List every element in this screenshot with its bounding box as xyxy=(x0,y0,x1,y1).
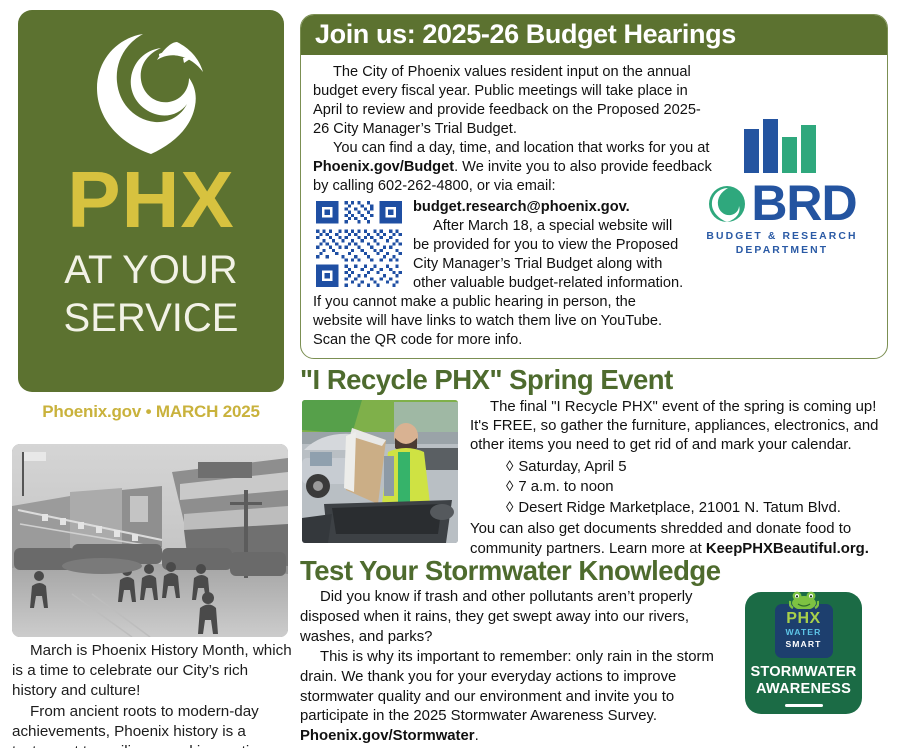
recycle-paragraph-1: The final "I Recycle PHX" event of the s… xyxy=(470,398,888,456)
brd-wordmark: BRD xyxy=(691,181,873,226)
diamond-bullet-icon: ◊ xyxy=(506,459,513,475)
stormwater-text-block: Did you know if trash and other pollutan… xyxy=(300,586,740,747)
bar-chart-icon xyxy=(722,117,842,173)
recycle-photo-illustration xyxy=(302,400,458,543)
newsletter-page: PHX AT YOUR SERVICE Phoenix.gov • MARCH … xyxy=(0,0,901,748)
stormwater-website-link[interactable]: Phoenix.gov/Stormwater xyxy=(300,728,475,744)
stormwater-paragraph-2a: This is why its important to remember: o… xyxy=(300,649,714,724)
recycle-tail-b: . xyxy=(865,541,869,557)
brd-logo: BRD BUDGET & RESEARCH DEPARTMENT xyxy=(691,117,873,257)
masthead-phx: PHX xyxy=(18,160,284,240)
historic-parade-illustration xyxy=(12,444,288,637)
brd-letters: BRD xyxy=(751,181,856,226)
badge-smart-text: SMART xyxy=(775,639,833,649)
badge-water-text: WATER xyxy=(775,627,833,639)
masthead-at-your: AT YOUR xyxy=(18,250,284,291)
history-text-block: March is Phoenix History Month, which is… xyxy=(12,641,294,748)
recycle-bullet-location: Desert Ridge Marketplace, 21001 N. Tatum… xyxy=(518,500,841,516)
recycle-bullet-time: 7 a.m. to noon xyxy=(518,479,613,495)
stormwater-paragraph-2b: . xyxy=(475,728,479,744)
budget-email-link[interactable]: budget.research@phoenix.gov xyxy=(413,199,626,215)
keep-phx-beautiful-link[interactable]: KeepPHXBeautiful.org xyxy=(706,541,865,557)
budget-paragraph-1: The City of Phoenix values resident inpu… xyxy=(313,63,713,139)
phx-water-smart-logo: PHX WATER SMART xyxy=(775,604,833,658)
recycle-text-block: The final "I Recycle PHX" event of the s… xyxy=(470,398,888,560)
list-item: ◊7 a.m. to noon xyxy=(506,477,888,498)
diamond-bullet-icon: ◊ xyxy=(506,479,513,495)
left-column: PHX AT YOUR SERVICE Phoenix.gov • MARCH … xyxy=(12,10,290,422)
recycle-details-list: ◊Saturday, April 5 ◊7 a.m. to noon ◊Dese… xyxy=(506,457,888,519)
stormwater-heading: Test Your Stormwater Knowledge xyxy=(300,556,890,587)
budget-hearings-body: BRD BUDGET & RESEARCH DEPARTMENT The Cit… xyxy=(301,55,887,358)
budget-email-period: . xyxy=(626,199,630,215)
budget-paragraph-2a: You can find a day, time, and location t… xyxy=(333,140,709,156)
stormwater-section: Test Your Stormwater Knowledge Did you k… xyxy=(300,556,890,747)
masthead-footer: Phoenix.gov • MARCH 2025 xyxy=(12,392,290,422)
right-column: Join us: 2025-26 Budget Hearings xyxy=(300,14,890,748)
recycle-bullet-date: Saturday, April 5 xyxy=(518,459,626,475)
frog-icon xyxy=(789,591,819,609)
diamond-bullet-icon: ◊ xyxy=(506,500,513,516)
recycle-section: "I Recycle PHX" Spring Event xyxy=(300,365,890,550)
budget-hearings-heading: Join us: 2025-26 Budget Hearings xyxy=(301,15,887,55)
masthead-service: SERVICE xyxy=(18,298,284,339)
stormwater-paragraph-2: This is why its important to remember: o… xyxy=(300,648,740,747)
stormwater-paragraph-1: Did you know if trash and other pollutan… xyxy=(300,588,740,647)
phoenix-bird-icon xyxy=(85,24,217,164)
qr-code-icon[interactable] xyxy=(313,198,405,290)
list-item: ◊Saturday, April 5 xyxy=(506,457,888,478)
stormwater-awareness-badge: PHX WATER SMART STORMWATER AWARENESS xyxy=(745,592,862,714)
recycle-event-photo xyxy=(302,400,458,543)
phoenix-bird-icon xyxy=(707,184,747,224)
badge-line-stormwater: STORMWATER xyxy=(745,664,862,680)
budget-website-link[interactable]: Phoenix.gov/Budget xyxy=(313,159,454,175)
brd-subtitle-1: BUDGET & RESEARCH xyxy=(691,230,873,244)
brd-subtitle-2: DEPARTMENT xyxy=(691,244,873,258)
list-item: ◊Desert Ridge Marketplace, 21001 N. Tatu… xyxy=(506,498,888,519)
recycle-tail-paragraph: You can also get documents shredded and … xyxy=(470,520,888,559)
history-paragraph-2: From ancient roots to modern-day achieve… xyxy=(12,702,294,748)
badge-divider xyxy=(785,704,823,707)
budget-hearings-card: Join us: 2025-26 Budget Hearings xyxy=(300,14,888,359)
history-photo xyxy=(12,444,288,637)
badge-line-awareness: AWARENESS xyxy=(745,681,862,697)
recycle-heading: "I Recycle PHX" Spring Event xyxy=(300,365,890,396)
masthead-banner: PHX AT YOUR SERVICE xyxy=(18,10,284,392)
history-paragraph-1: March is Phoenix History Month, which is… xyxy=(12,641,294,702)
